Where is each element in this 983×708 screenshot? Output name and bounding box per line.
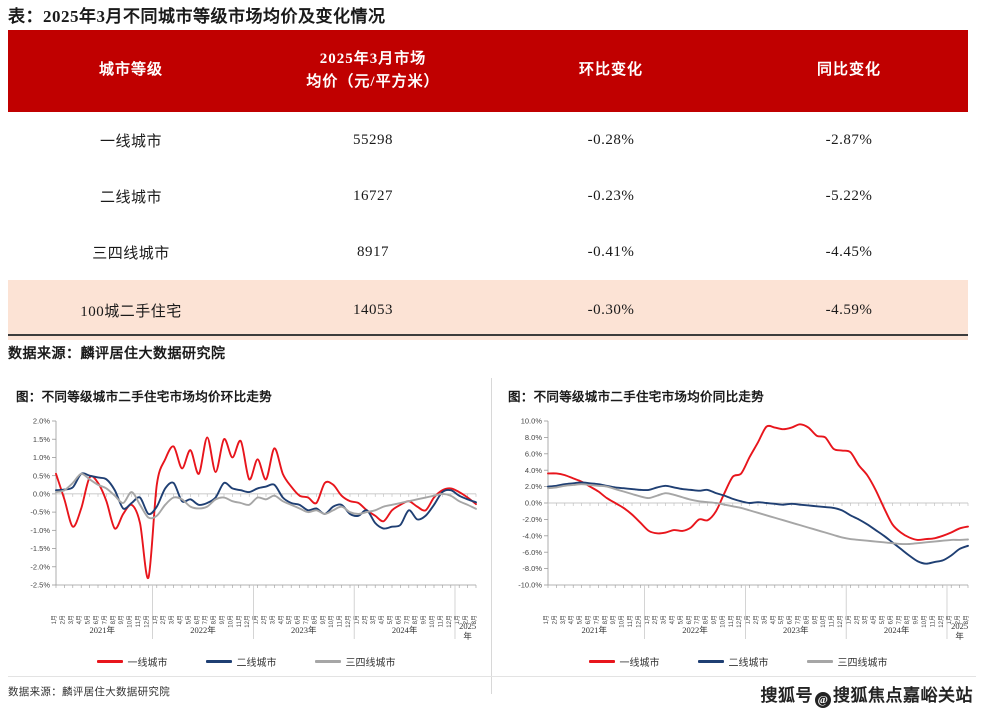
svg-text:7月: 7月	[303, 615, 310, 624]
svg-text:5月: 5月	[577, 615, 584, 624]
svg-text:11月: 11月	[728, 615, 735, 627]
svg-text:4月: 4月	[379, 615, 386, 624]
infographic-page: 表：2025年3月不同城市等级市场均价及变化情况 城市等级 2025年3月市场 …	[0, 0, 983, 705]
svg-text:10.0%: 10.0%	[521, 417, 543, 426]
svg-text:2024年: 2024年	[392, 625, 418, 635]
legend-label-tier1: 一线城市	[128, 654, 168, 669]
svg-text:8月: 8月	[211, 615, 218, 624]
svg-text:11月: 11月	[236, 615, 243, 627]
svg-text:11月: 11月	[627, 615, 634, 627]
svg-text:6月: 6月	[585, 615, 592, 624]
cell-yoy-change: -2.87%	[730, 112, 968, 168]
chart-plot-yoy: 10.0%8.0%6.0%4.0%2.0%0.0%-2.0%-4.0%-6.0%…	[500, 415, 976, 647]
legend-swatch-tier2	[698, 660, 724, 663]
svg-text:8月: 8月	[311, 615, 318, 624]
chart-svg-yoy: 10.0%8.0%6.0%4.0%2.0%0.0%-2.0%-4.0%-6.0%…	[500, 415, 976, 647]
column-header-city-grade: 城市等级	[8, 30, 254, 112]
svg-text:4月: 4月	[76, 615, 83, 624]
svg-text:4月: 4月	[278, 615, 285, 624]
svg-text:0.5%: 0.5%	[33, 471, 50, 480]
legend-item-tier2: 二线城市	[698, 654, 769, 669]
column-header-avg-price-line2: 均价（元/平方米）	[258, 71, 488, 94]
svg-text:10月: 10月	[429, 615, 436, 628]
legend-item-tier34: 三四线城市	[315, 654, 396, 669]
svg-text:3月: 3月	[862, 615, 869, 624]
svg-text:2022年: 2022年	[190, 625, 216, 635]
svg-text:0.0%: 0.0%	[33, 489, 50, 498]
cell-avg-price: 55298	[254, 112, 492, 168]
svg-text:-1.0%: -1.0%	[30, 526, 50, 535]
svg-text:5月: 5月	[185, 615, 192, 624]
svg-text:9月: 9月	[610, 615, 617, 624]
svg-text:6月: 6月	[887, 615, 894, 624]
cell-mom-change: -0.28%	[492, 112, 730, 168]
svg-text:12月: 12月	[244, 615, 251, 628]
legend-swatch-tier34	[807, 660, 833, 663]
svg-text:3月: 3月	[269, 615, 276, 624]
svg-text:7月: 7月	[101, 615, 108, 624]
column-header-mom-change: 环比变化	[492, 30, 730, 112]
svg-text:-6.0%: -6.0%	[522, 548, 542, 557]
svg-text:11月: 11月	[929, 615, 936, 627]
svg-text:4月: 4月	[669, 615, 676, 624]
svg-text:12月: 12月	[143, 615, 150, 628]
svg-text:8月: 8月	[412, 615, 419, 624]
cell-city-grade: 二线城市	[8, 168, 254, 224]
svg-text:6月: 6月	[295, 615, 302, 624]
cell-mom-change: -0.30%	[492, 280, 730, 340]
svg-text:9月: 9月	[421, 615, 428, 624]
table-bottom-rule	[8, 334, 968, 336]
legend-label-tier2: 二线城市	[729, 654, 769, 669]
svg-text:2023年: 2023年	[291, 625, 317, 635]
svg-text:10月: 10月	[127, 615, 134, 628]
svg-text:5月: 5月	[778, 615, 785, 624]
svg-text:10月: 10月	[227, 615, 234, 628]
svg-text:11月: 11月	[437, 615, 444, 627]
svg-text:11月: 11月	[337, 615, 344, 627]
svg-text:7月: 7月	[202, 615, 209, 624]
svg-text:6月: 6月	[395, 615, 402, 624]
svg-text:2.0%: 2.0%	[33, 417, 50, 426]
svg-text:1月: 1月	[51, 615, 58, 624]
cell-mom-change: -0.41%	[492, 224, 730, 280]
svg-text:-8.0%: -8.0%	[522, 564, 542, 573]
chart-panel-yoy: 图：不同等级城市二手住宅市场均价同比走势 10.0%8.0%6.0%4.0%2.…	[500, 378, 976, 696]
svg-text:2022年: 2022年	[682, 625, 708, 635]
svg-text:-2.5%: -2.5%	[30, 581, 50, 590]
table-row: 三四线城市 8917 -0.41% -4.45%	[8, 224, 968, 280]
svg-text:5月: 5月	[879, 615, 886, 624]
svg-text:6月: 6月	[194, 615, 201, 624]
svg-text:10月: 10月	[328, 615, 335, 628]
svg-text:1.0%: 1.0%	[33, 453, 50, 462]
svg-text:6.0%: 6.0%	[525, 449, 542, 458]
svg-text:6月: 6月	[787, 615, 794, 624]
chart-plot-mom: 2.0%1.5%1.0%0.5%0.0%-0.5%-1.0%-1.5%-2.0%…	[8, 415, 484, 647]
chart-title-yoy: 图：不同等级城市二手住宅市场均价同比走势	[508, 386, 976, 405]
chart-legend-yoy: 一线城市 二线城市 三四线城市	[500, 654, 976, 669]
svg-text:2021年: 2021年	[581, 625, 607, 635]
cell-yoy-change: -4.45%	[730, 224, 968, 280]
cell-mom-change: -0.23%	[492, 168, 730, 224]
legend-swatch-tier1	[97, 660, 123, 663]
watermark: 搜狐号@搜狐焦点嘉峪关站	[761, 681, 974, 708]
svg-text:年: 年	[955, 631, 964, 641]
svg-text:10月: 10月	[619, 615, 626, 628]
svg-text:9月: 9月	[711, 615, 718, 624]
svg-text:-0.5%: -0.5%	[30, 508, 50, 517]
svg-text:3月: 3月	[761, 615, 768, 624]
svg-text:7月: 7月	[896, 615, 903, 624]
svg-text:2025: 2025	[459, 621, 476, 631]
svg-text:5月: 5月	[85, 615, 92, 624]
svg-text:7月: 7月	[404, 615, 411, 624]
legend-label-tier2: 二线城市	[237, 654, 277, 669]
svg-text:8月: 8月	[803, 615, 810, 624]
svg-text:11月: 11月	[135, 615, 142, 627]
svg-text:5月: 5月	[286, 615, 293, 624]
svg-text:0.0%: 0.0%	[525, 499, 542, 508]
svg-text:12月: 12月	[446, 615, 453, 628]
table-source-note: 数据来源：麟评居住大数据研究院	[8, 343, 226, 363]
cell-city-grade: 一线城市	[8, 112, 254, 168]
svg-text:-10.0%: -10.0%	[518, 581, 542, 590]
svg-text:12月: 12月	[345, 615, 352, 628]
svg-text:11月: 11月	[829, 615, 836, 627]
table-title: 表：2025年3月不同城市等级市场均价及变化情况	[8, 2, 386, 27]
svg-text:7月: 7月	[795, 615, 802, 624]
table-header-row: 城市等级 2025年3月市场 均价（元/平方米） 环比变化 同比变化	[8, 30, 968, 112]
table-row-highlighted: 100城二手住宅 14053 -0.30% -4.59%	[8, 280, 968, 340]
legend-item-tier34: 三四线城市	[807, 654, 888, 669]
chart-title-mom: 图：不同等级城市二手住宅市场均价环比走势	[16, 386, 484, 405]
svg-text:2月: 2月	[652, 615, 659, 624]
legend-swatch-tier2	[206, 660, 232, 663]
svg-text:9月: 9月	[320, 615, 327, 624]
chart-legend-mom: 一线城市 二线城市 三四线城市	[8, 654, 484, 669]
table-head: 城市等级 2025年3月市场 均价（元/平方米） 环比变化 同比变化	[8, 30, 968, 112]
svg-text:3月: 3月	[169, 615, 176, 624]
svg-text:2024年: 2024年	[884, 625, 910, 635]
svg-text:9月: 9月	[118, 615, 125, 624]
chart-panel-mom: 图：不同等级城市二手住宅市场均价环比走势 2.0%1.5%1.0%0.5%0.0…	[8, 378, 484, 696]
svg-text:8月: 8月	[110, 615, 117, 624]
svg-text:9月: 9月	[812, 615, 819, 624]
cell-avg-price: 16727	[254, 168, 492, 224]
watermark-prefix: 搜狐号	[761, 686, 814, 705]
svg-text:2月: 2月	[261, 615, 268, 624]
svg-text:6月: 6月	[686, 615, 693, 624]
cell-city-grade: 100城二手住宅	[8, 280, 254, 340]
footer-divider	[8, 676, 976, 677]
svg-text:3月: 3月	[661, 615, 668, 624]
svg-text:4.0%: 4.0%	[525, 466, 542, 475]
svg-text:-1.5%: -1.5%	[30, 544, 50, 553]
svg-text:10月: 10月	[719, 615, 726, 628]
svg-text:3月: 3月	[370, 615, 377, 624]
legend-swatch-tier34	[315, 660, 341, 663]
svg-text:3月: 3月	[68, 615, 75, 624]
svg-text:2月: 2月	[362, 615, 369, 624]
svg-text:-2.0%: -2.0%	[30, 562, 50, 571]
svg-text:2月: 2月	[753, 615, 760, 624]
svg-text:8.0%: 8.0%	[525, 433, 542, 442]
svg-text:2.0%: 2.0%	[525, 482, 542, 491]
svg-text:2023年: 2023年	[783, 625, 809, 635]
svg-text:2月: 2月	[59, 615, 66, 624]
svg-text:12月: 12月	[938, 615, 945, 628]
svg-text:2025: 2025	[951, 621, 968, 631]
cell-yoy-change: -4.59%	[730, 280, 968, 340]
legend-item-tier1: 一线城市	[97, 654, 168, 669]
svg-text:10月: 10月	[921, 615, 928, 628]
column-header-yoy-change: 同比变化	[730, 30, 968, 112]
legend-label-tier34: 三四线城市	[838, 654, 888, 669]
svg-text:1月: 1月	[543, 615, 550, 624]
legend-swatch-tier1	[589, 660, 615, 663]
cell-yoy-change: -5.22%	[730, 168, 968, 224]
price-table: 城市等级 2025年3月市场 均价（元/平方米） 环比变化 同比变化 一线城市 …	[8, 30, 968, 340]
svg-text:2月: 2月	[160, 615, 167, 624]
svg-text:年: 年	[463, 631, 472, 641]
legend-label-tier1: 一线城市	[620, 654, 660, 669]
cell-avg-price: 14053	[254, 280, 492, 340]
svg-text:9月: 9月	[913, 615, 920, 624]
footer-source-note: 数据来源：麟评居住大数据研究院	[8, 684, 170, 699]
cell-avg-price: 8917	[254, 224, 492, 280]
sohu-logo-icon: @	[815, 692, 831, 708]
svg-text:-2.0%: -2.0%	[522, 515, 542, 524]
svg-text:4月: 4月	[770, 615, 777, 624]
table-body: 一线城市 55298 -0.28% -2.87% 二线城市 16727 -0.2…	[8, 112, 968, 340]
chart-divider	[491, 378, 492, 694]
svg-text:7月: 7月	[593, 615, 600, 624]
legend-item-tier2: 二线城市	[206, 654, 277, 669]
svg-text:12月: 12月	[837, 615, 844, 628]
table-row: 二线城市 16727 -0.23% -5.22%	[8, 168, 968, 224]
svg-text:4月: 4月	[568, 615, 575, 624]
column-header-avg-price-line1: 2025年3月市场	[258, 48, 488, 71]
svg-text:12月: 12月	[635, 615, 642, 628]
svg-text:2021年: 2021年	[89, 625, 115, 635]
chart-svg-mom: 2.0%1.5%1.0%0.5%0.0%-0.5%-1.0%-1.5%-2.0%…	[8, 415, 484, 647]
svg-text:1.5%: 1.5%	[33, 435, 50, 444]
svg-text:3月: 3月	[560, 615, 567, 624]
cell-city-grade: 三四线城市	[8, 224, 254, 280]
legend-item-tier1: 一线城市	[589, 654, 660, 669]
watermark-suffix: 搜狐焦点嘉峪关站	[833, 686, 973, 705]
svg-text:12月: 12月	[736, 615, 743, 628]
svg-text:8月: 8月	[904, 615, 911, 624]
svg-text:2月: 2月	[854, 615, 861, 624]
column-header-avg-price: 2025年3月市场 均价（元/平方米）	[254, 30, 492, 112]
svg-text:5月: 5月	[387, 615, 394, 624]
svg-text:5月: 5月	[677, 615, 684, 624]
svg-text:9月: 9月	[219, 615, 226, 624]
svg-text:4月: 4月	[871, 615, 878, 624]
legend-label-tier34: 三四线城市	[346, 654, 396, 669]
table-row: 一线城市 55298 -0.28% -2.87%	[8, 112, 968, 168]
svg-text:8月: 8月	[602, 615, 609, 624]
svg-text:4月: 4月	[177, 615, 184, 624]
svg-text:8月: 8月	[703, 615, 710, 624]
svg-text:7月: 7月	[694, 615, 701, 624]
svg-text:2月: 2月	[551, 615, 558, 624]
svg-text:-4.0%: -4.0%	[522, 531, 542, 540]
svg-text:10月: 10月	[820, 615, 827, 628]
svg-text:6月: 6月	[93, 615, 100, 624]
